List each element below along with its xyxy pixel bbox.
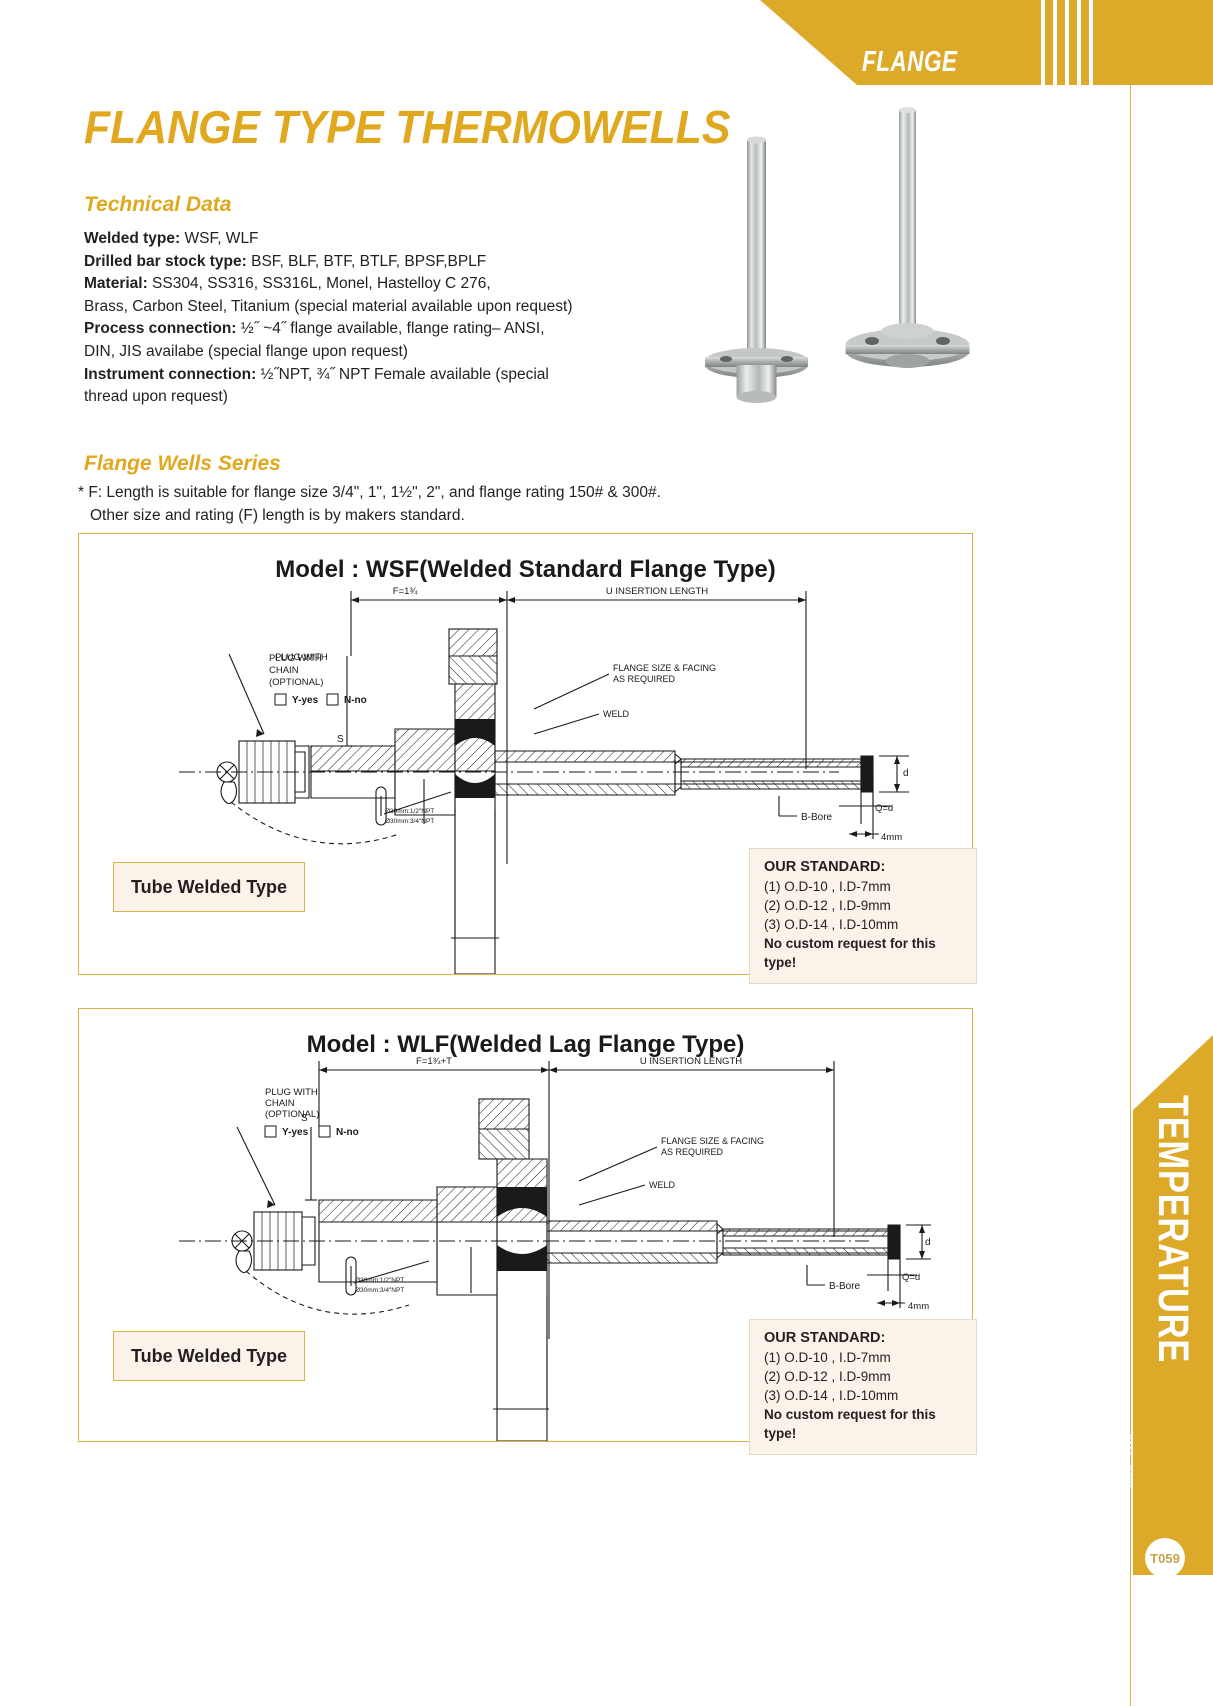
- spec-row: Drilled bar stock type: BSF, BLF, BTF, B…: [84, 251, 654, 274]
- spec-value: Brass, Carbon Steel, Titanium (special m…: [84, 298, 573, 315]
- label-n-no: N-no: [336, 1127, 359, 1138]
- label-npt-1: Ø30mm:1/2"NPT: [355, 1277, 404, 1284]
- spec-row: Material: SS304, SS316, SS316L, Monel, H…: [84, 273, 654, 296]
- label-q: Q=d: [902, 1272, 920, 1283]
- wlf-standard-item: (1) O.D-10 , I.D-7mm: [764, 1348, 964, 1367]
- wsf-standard-item: (3) O.D-14 , I.D-10mm: [764, 915, 964, 934]
- label-b-bore: B-Bore: [829, 1281, 861, 1292]
- checkbox-no[interactable]: [327, 694, 338, 705]
- label-chain: CHAIN: [265, 1098, 295, 1109]
- label-b-bore: B-Bore: [801, 812, 833, 823]
- technical-data-list: Welded type: WSF, WLF Drilled bar stock …: [84, 228, 654, 409]
- product-photo: [690, 95, 1020, 445]
- wlf-tube-welded-box: Tube Welded Type: [113, 1331, 305, 1381]
- label-y-yes: Y-yes: [282, 1127, 309, 1138]
- header-category-label: FLANGE: [862, 46, 957, 79]
- spec-row: Process connection: ½˝ ~4˝ flange availa…: [84, 318, 654, 341]
- label-flange-size: FLANGE SIZE & FACING: [661, 1136, 764, 1146]
- label-optional: (OPTIONAL): [265, 1109, 319, 1120]
- label-weld: WELD: [649, 1180, 676, 1190]
- thermowell-unit-left: [705, 137, 808, 404]
- spec-label: Instrument connection:: [84, 366, 256, 383]
- spec-label: Drilled bar stock type:: [84, 253, 247, 270]
- spec-row: Instrument connection: ½˝NPT, ¾˝ NPT Fem…: [84, 364, 654, 387]
- series-heading: Flange Wells Series: [84, 452, 281, 476]
- side-category-label: TEMPERATURE: [1133, 1035, 1213, 1575]
- header-stripe-1: [1041, 0, 1045, 85]
- label-s: S: [337, 734, 344, 745]
- wsf-standard-item: (2) O.D-12 , I.D-9mm: [764, 896, 964, 915]
- label-n-no: N-no: [344, 695, 367, 706]
- label-npt-2: Ø30mm:3/4"NPT: [355, 1287, 404, 1294]
- spec-label: Material:: [84, 275, 148, 292]
- spec-row: Welded type: WSF, WLF: [84, 228, 654, 251]
- label-d: d: [925, 1237, 931, 1248]
- revision-date: 01Mar2021: [1113, 1430, 1133, 1530]
- label-flange-size: FLANGE SIZE & FACING: [613, 663, 716, 673]
- thermowell-unit-right: [846, 107, 970, 368]
- label-flange-size-2: AS REQUIRED: [661, 1147, 724, 1157]
- header-stripe-3: [1065, 0, 1069, 85]
- spec-value: WSF, WLF: [180, 230, 258, 247]
- wsf-standard-item: (1) O.D-10 , I.D-7mm: [764, 877, 964, 896]
- label-chain: CHAIN: [269, 665, 299, 676]
- label-dim-u: U INSERTION LENGTH: [606, 586, 708, 597]
- wlf-standard-box: OUR STANDARD: (1) O.D-10 , I.D-7mm (2) O…: [749, 1319, 977, 1455]
- diagram-panel-wlf: Model : WLF(Welded Lag Flange Type): [78, 1008, 973, 1442]
- page-header: FLANGE: [0, 0, 1213, 92]
- spec-value: SS304, SS316, SS316L, Monel, Hastelloy C…: [148, 275, 491, 292]
- spec-value: DIN, JIS availabe (special flange upon r…: [84, 343, 408, 360]
- spec-row: DIN, JIS availabe (special flange upon r…: [84, 341, 654, 364]
- label-dim-f: F=1¾+T: [416, 1056, 452, 1067]
- page-number-badge: T059: [1145, 1538, 1185, 1578]
- wsf-plug-callout: PLUG WITH: [275, 652, 328, 664]
- header-stripe-4: [1077, 0, 1081, 85]
- spec-row: thread upon request): [84, 386, 654, 409]
- checkbox-no[interactable]: [319, 1126, 330, 1137]
- spec-label: Welded type:: [84, 230, 180, 247]
- page-title: FLANGE TYPE THERMOWELLS: [84, 100, 730, 154]
- spec-value: thread upon request): [84, 388, 228, 405]
- wlf-standard-title: OUR STANDARD:: [764, 1329, 964, 1348]
- label-optional: (OPTIONAL): [269, 677, 323, 688]
- label-4mm: 4mm: [881, 832, 902, 843]
- header-band: [760, 0, 1213, 85]
- label-weld: WELD: [603, 709, 630, 719]
- header-stripe-2: [1053, 0, 1057, 85]
- label-y-yes: Y-yes: [292, 695, 319, 706]
- spec-label: Process connection:: [84, 320, 236, 337]
- diagram-panel-wsf: Model : WSF(Welded Standard Flange Type): [78, 533, 973, 975]
- spec-value: ½˝NPT, ¾˝ NPT Female available (special: [256, 366, 549, 383]
- wsf-standard-title: OUR STANDARD:: [764, 858, 964, 877]
- wsf-standard-footer: No custom request for this type!: [764, 934, 964, 972]
- spec-row: Brass, Carbon Steel, Titanium (special m…: [84, 296, 654, 319]
- label-s: S: [301, 1113, 308, 1124]
- label-d: d: [903, 768, 909, 779]
- wlf-standard-footer: No custom request for this type!: [764, 1405, 964, 1443]
- wsf-tube-welded-box: Tube Welded Type: [113, 862, 305, 912]
- label-plug-with: PLUG WITH: [265, 1087, 318, 1098]
- spec-value: BSF, BLF, BTF, BTLF, BPSF,BPLF: [247, 253, 486, 270]
- series-note: * F: Length is suitable for flange size …: [78, 481, 778, 527]
- checkbox-yes[interactable]: [265, 1126, 276, 1137]
- wsf-tube-welded-label: Tube Welded Type: [131, 877, 287, 898]
- header-stripe-5: [1089, 0, 1093, 85]
- wsf-standard-box: OUR STANDARD: (1) O.D-10 , I.D-7mm (2) O…: [749, 848, 977, 984]
- wsf-plug-line1: PLUG WITH: [275, 652, 328, 664]
- label-dim-u: U INSERTION LENGTH: [640, 1056, 742, 1067]
- wlf-tube-welded-label: Tube Welded Type: [131, 1346, 287, 1367]
- label-4mm: 4mm: [908, 1301, 929, 1312]
- series-note-line2: Other size and rating (F) length is by m…: [78, 504, 778, 527]
- label-npt-1: Ø30mm:1/2"NPT: [385, 808, 434, 815]
- series-note-line1: * F: Length is suitable for flange size …: [78, 484, 661, 501]
- label-dim-f: F=1¾: [393, 586, 419, 597]
- label-npt-2: Ø30mm:3/4"NPT: [385, 818, 434, 825]
- wlf-standard-item: (3) O.D-14 , I.D-10mm: [764, 1386, 964, 1405]
- technical-data-heading: Technical Data: [84, 193, 231, 217]
- side-category-text: TEMPERATURE: [1149, 1095, 1198, 1363]
- spec-value: ½˝ ~4˝ flange available, flange rating– …: [236, 320, 544, 337]
- label-flange-size-2: AS REQUIRED: [613, 674, 676, 684]
- label-q: Q=d: [875, 803, 893, 814]
- checkbox-yes[interactable]: [275, 694, 286, 705]
- wlf-standard-item: (2) O.D-12 , I.D-9mm: [764, 1367, 964, 1386]
